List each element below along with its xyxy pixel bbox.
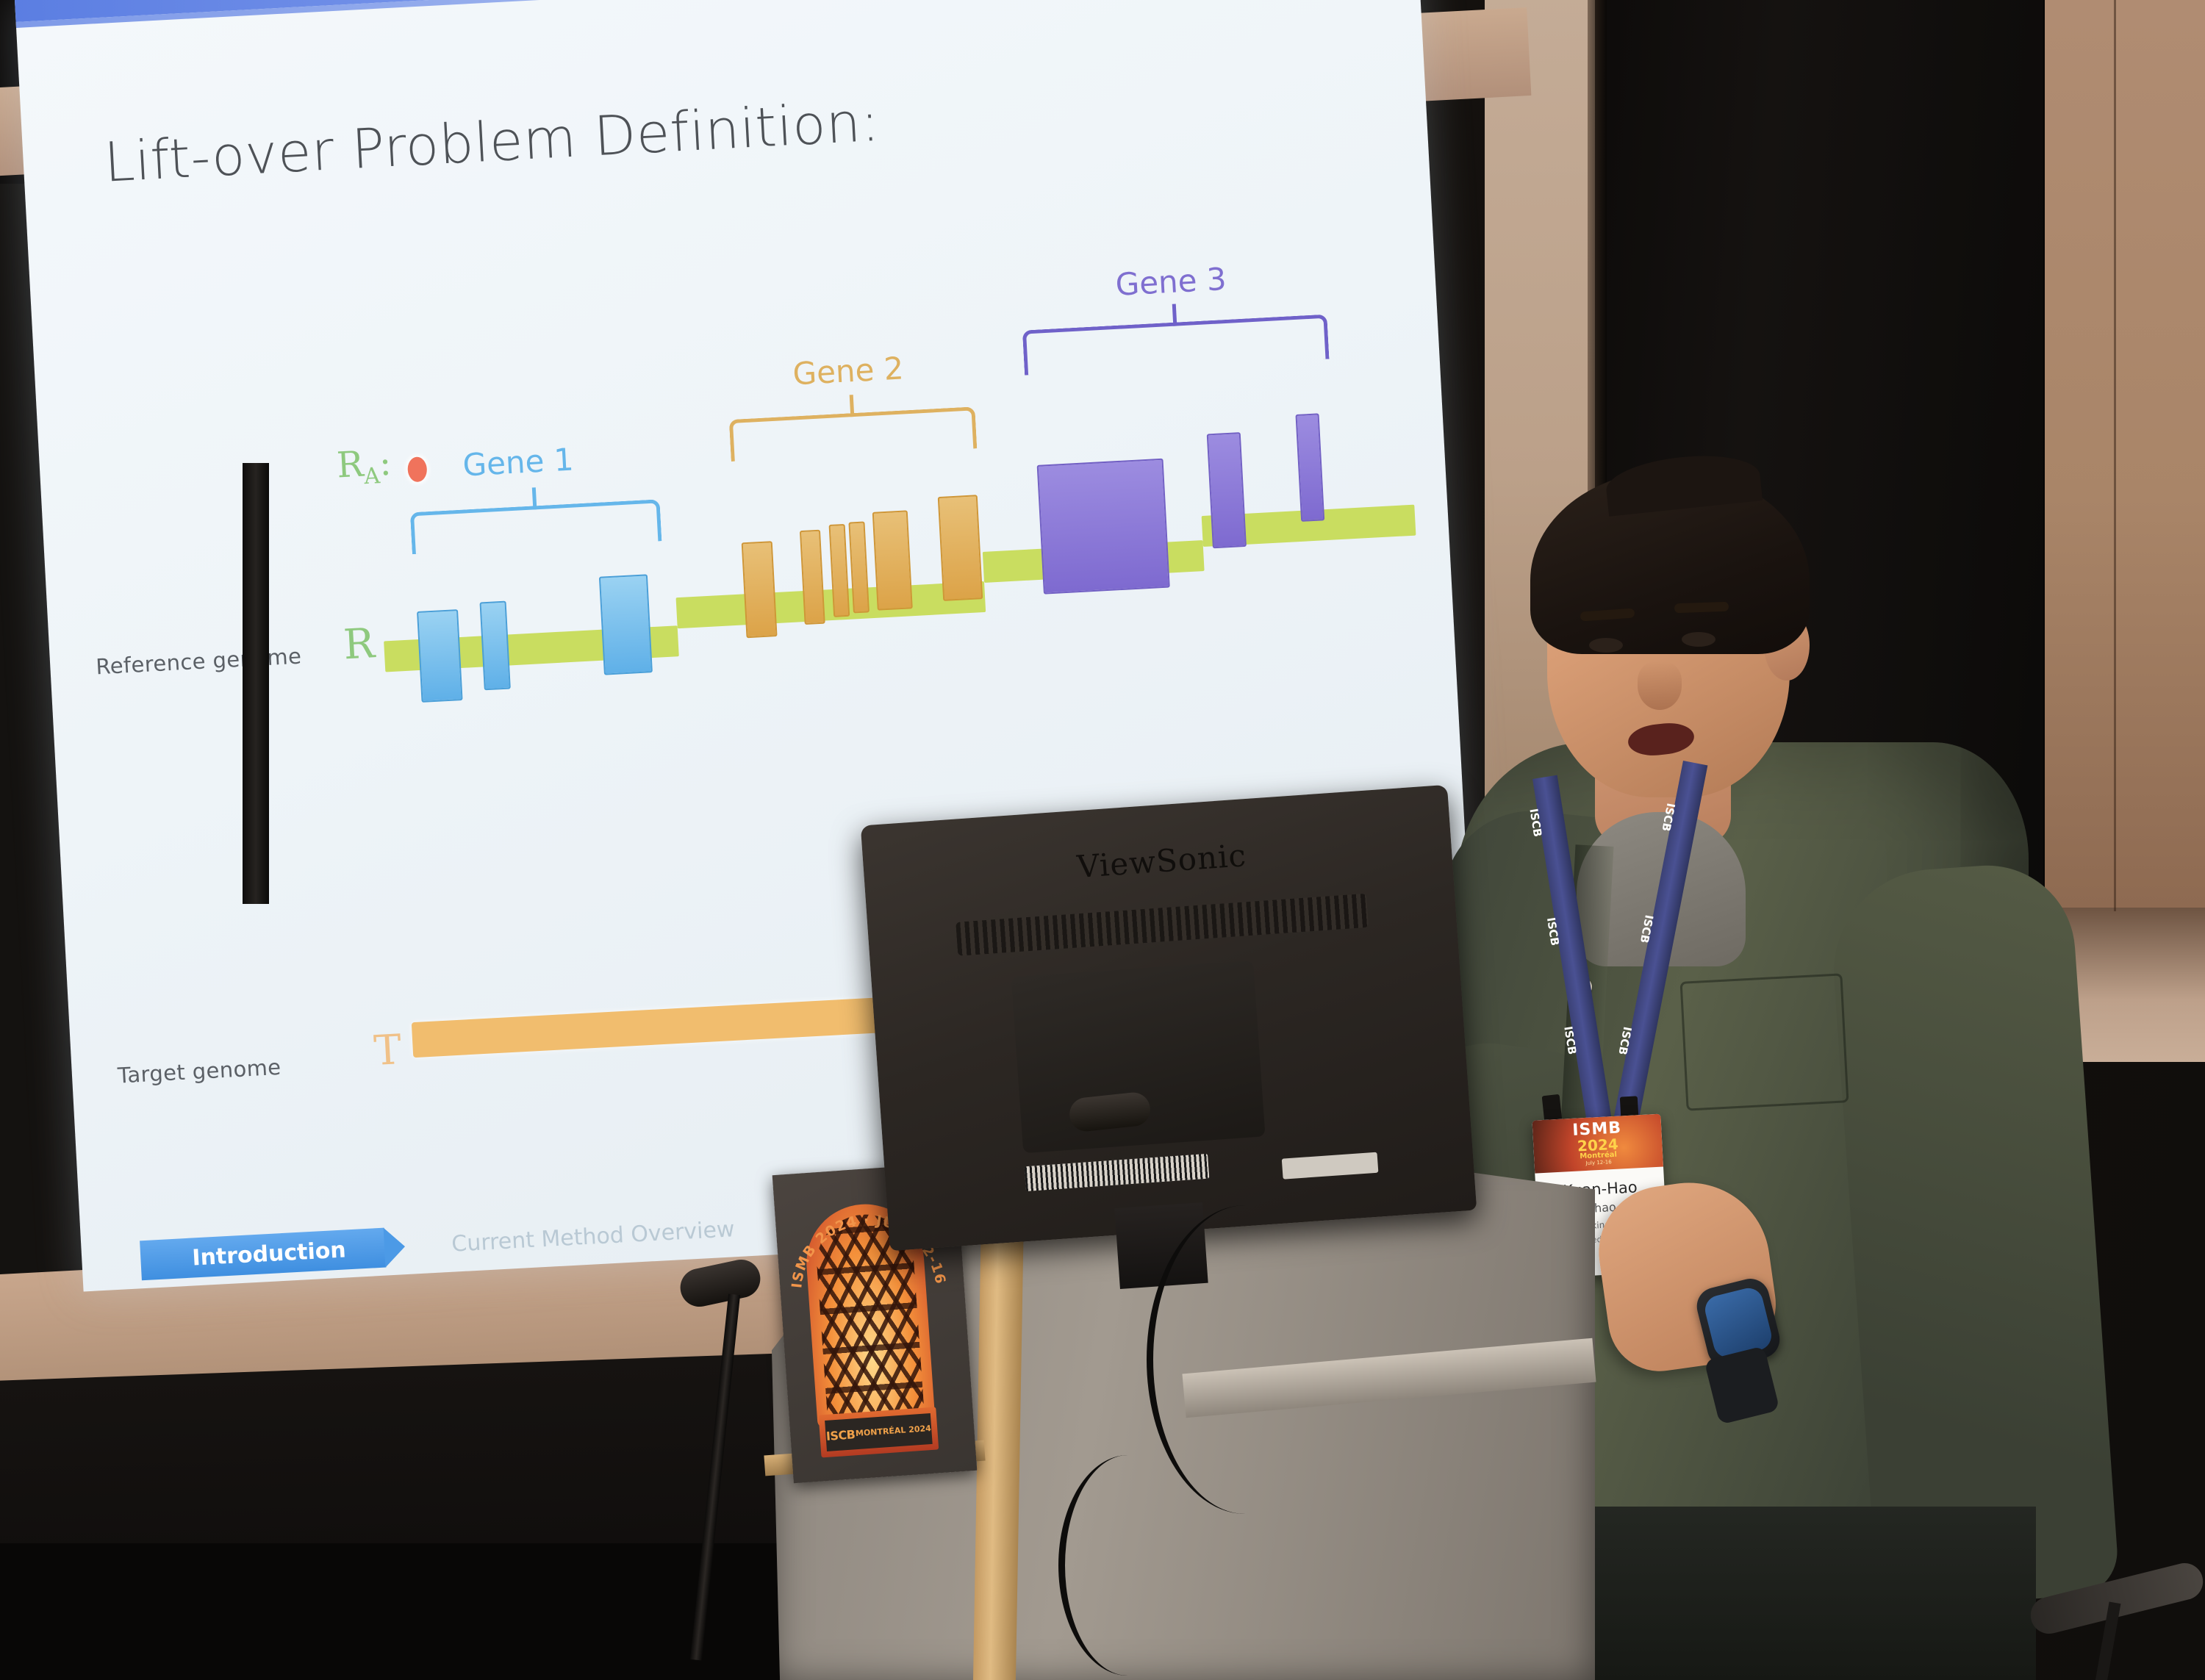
page-title: Lift-over Problem Definition: bbox=[103, 90, 881, 195]
wall-seam bbox=[2114, 0, 2116, 911]
cable-2 bbox=[1058, 1455, 1197, 1676]
exon-orange-1 bbox=[742, 541, 778, 638]
speaker-left-eye bbox=[1589, 638, 1623, 653]
right-wall-panel bbox=[2040, 0, 2205, 908]
badge-header: ISMB 2024 Montréal July 12-16 bbox=[1532, 1114, 1663, 1174]
gene-1-label: Gene 1 bbox=[462, 441, 574, 483]
exon-purple-3 bbox=[1295, 413, 1324, 521]
gene-3-bracket bbox=[1022, 315, 1330, 376]
photo-scene: Lift-over Problem Definition: RA: Gene 1… bbox=[0, 0, 2205, 1680]
sign-base-bar: ISCB MONTRÉAL 2024 bbox=[819, 1407, 939, 1457]
watch-face bbox=[1702, 1285, 1774, 1361]
cable-1 bbox=[1147, 1205, 1344, 1514]
variant-symbol: RA: bbox=[336, 442, 392, 491]
exon-blue-1 bbox=[417, 609, 463, 703]
sign-base-inner: ISCB MONTRÉAL 2024 bbox=[825, 1413, 933, 1451]
exon-blue-3 bbox=[599, 574, 653, 675]
speaker-right-eye bbox=[1682, 632, 1715, 647]
nav-item-current-method-overview-label: Current Method Overview bbox=[451, 1216, 735, 1257]
speaker-right-arm bbox=[1827, 860, 2120, 1610]
sign-iscb-logo: ISCB bbox=[825, 1427, 856, 1443]
snp-marker-dot bbox=[407, 456, 428, 482]
target-genome-label: Target genome bbox=[117, 1055, 282, 1088]
speaker-nose bbox=[1638, 661, 1682, 710]
monitor-barcode-sticker bbox=[1025, 1154, 1210, 1191]
reference-genome-label: Reference genome bbox=[96, 644, 303, 680]
nav-item-current-method-overview[interactable]: Current Method Overview bbox=[384, 1207, 775, 1267]
monitor-brand-label: ViewSonic bbox=[1076, 837, 1248, 885]
monitor-stand-pole bbox=[243, 463, 269, 904]
exon-orange-5 bbox=[872, 510, 913, 610]
monitor-vent bbox=[955, 894, 1369, 956]
gene-2-label: Gene 2 bbox=[792, 350, 904, 392]
sign-city-line: MONTRÉAL 2024 bbox=[856, 1424, 932, 1438]
exon-orange-2 bbox=[800, 530, 825, 625]
shirt-pocket bbox=[1680, 973, 1849, 1110]
presenter-monitor: ViewSonic bbox=[875, 805, 1463, 1275]
nav-item-introduction-label: Introduction bbox=[191, 1237, 346, 1271]
gene-3-label: Gene 3 bbox=[1114, 261, 1227, 303]
target-symbol: T bbox=[373, 1026, 403, 1075]
speaker-pants bbox=[1536, 1507, 2036, 1680]
nav-item-introduction[interactable]: Introduction bbox=[140, 1228, 387, 1281]
monitor-back-panel: ViewSonic bbox=[861, 785, 1477, 1251]
gene-2-bracket bbox=[729, 406, 978, 462]
backbone-seg-2 bbox=[676, 581, 986, 628]
gene-1-bracket bbox=[410, 499, 662, 554]
speaker-right-eyebrow bbox=[1674, 602, 1729, 614]
exon-purple-2 bbox=[1207, 432, 1247, 548]
monitor-info-sticker bbox=[1282, 1152, 1379, 1180]
exon-orange-6 bbox=[938, 495, 983, 601]
exon-purple-1 bbox=[1037, 459, 1170, 595]
reference-symbol: R bbox=[343, 620, 376, 669]
exon-blue-2 bbox=[479, 601, 510, 691]
